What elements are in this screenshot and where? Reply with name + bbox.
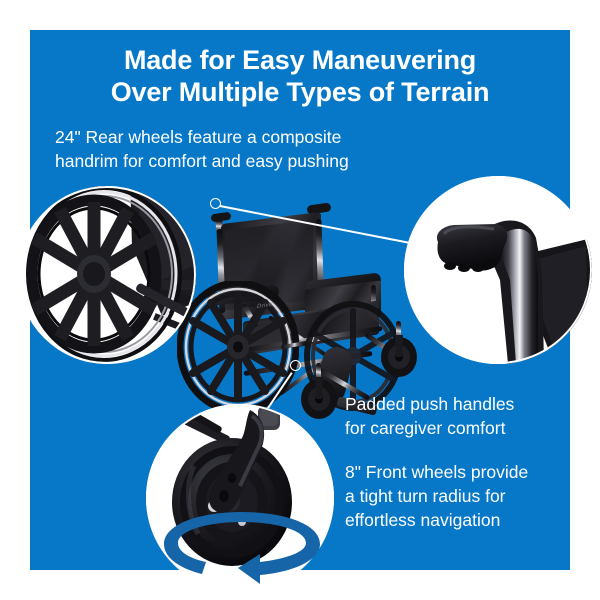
headline-line-2: Over Multiple Types of Terrain: [30, 76, 570, 108]
connector-node-front-caster: [290, 360, 301, 371]
swivel-rotation-arrow: [152, 510, 330, 584]
push-handle-zoom: [404, 176, 592, 364]
inset-push-handle-closeup: [404, 176, 592, 364]
rear-wheel-zoom: [18, 186, 196, 364]
headline-line-1: Made for Easy Maneuvering: [30, 44, 570, 76]
infographic-canvas: Drive: [0, 0, 600, 600]
callout-front-wheels-text: 8" Front wheels provide a tight turn rad…: [345, 460, 528, 532]
push-handle-left-grip: [211, 212, 232, 223]
callout-push-handles-text: Padded push handles for caregiver comfor…: [345, 392, 514, 440]
connector-node-push-handle: [210, 198, 221, 209]
inset-rear-wheel-closeup: [18, 186, 196, 364]
callout-rear-wheels-text: 24" Rear wheels feature a composite hand…: [55, 125, 349, 173]
headline-block: Made for Easy Maneuvering Over Multiple …: [30, 44, 570, 108]
